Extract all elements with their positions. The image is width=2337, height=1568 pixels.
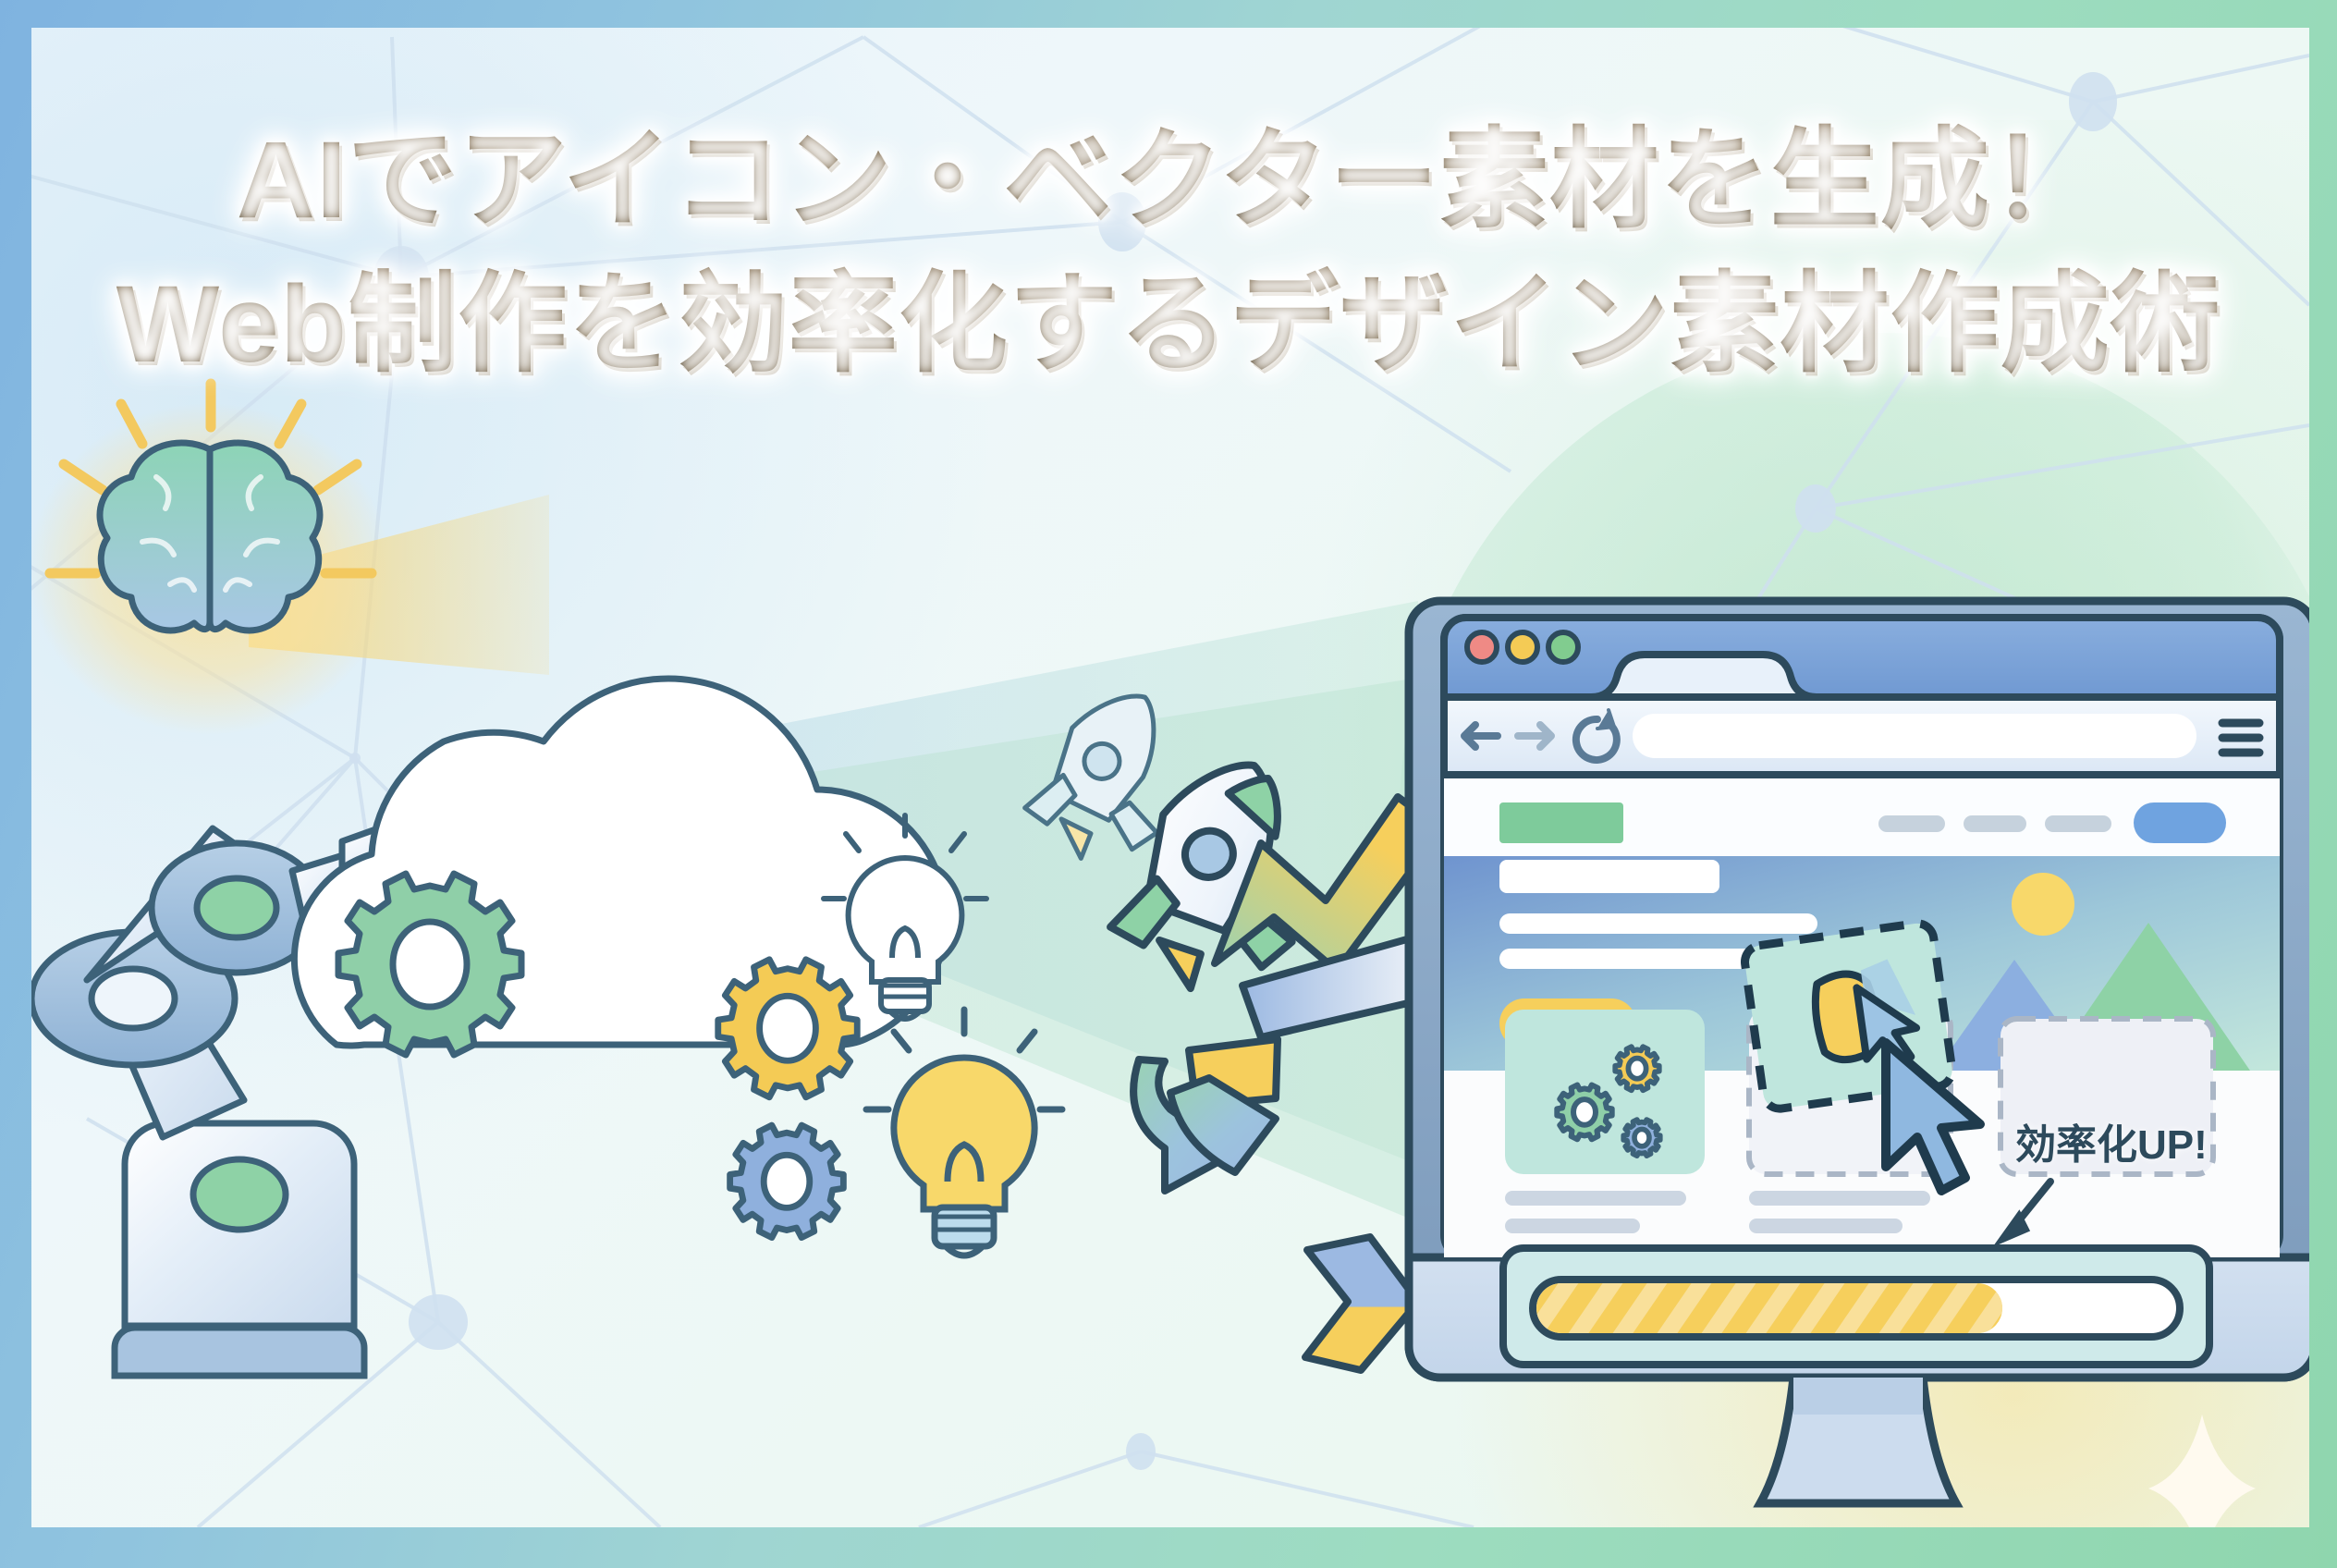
sparkle-star-icon	[2148, 1415, 2256, 1527]
poster-board: 効率化UP!	[31, 28, 2309, 1527]
progress-fill	[1529, 1276, 2017, 1341]
callout-arrow-icon	[2001, 1182, 2050, 1241]
interaction-overlay-group	[31, 28, 2309, 1527]
progress-panel	[1503, 1248, 2209, 1365]
efficiency-callout-label: 効率化UP!	[2015, 1111, 2208, 1170]
poster-canvas: 効率化UP! AIでアイコン・ベクター素材を生成！ Web制作を効率化するデザイ…	[0, 0, 2337, 1568]
